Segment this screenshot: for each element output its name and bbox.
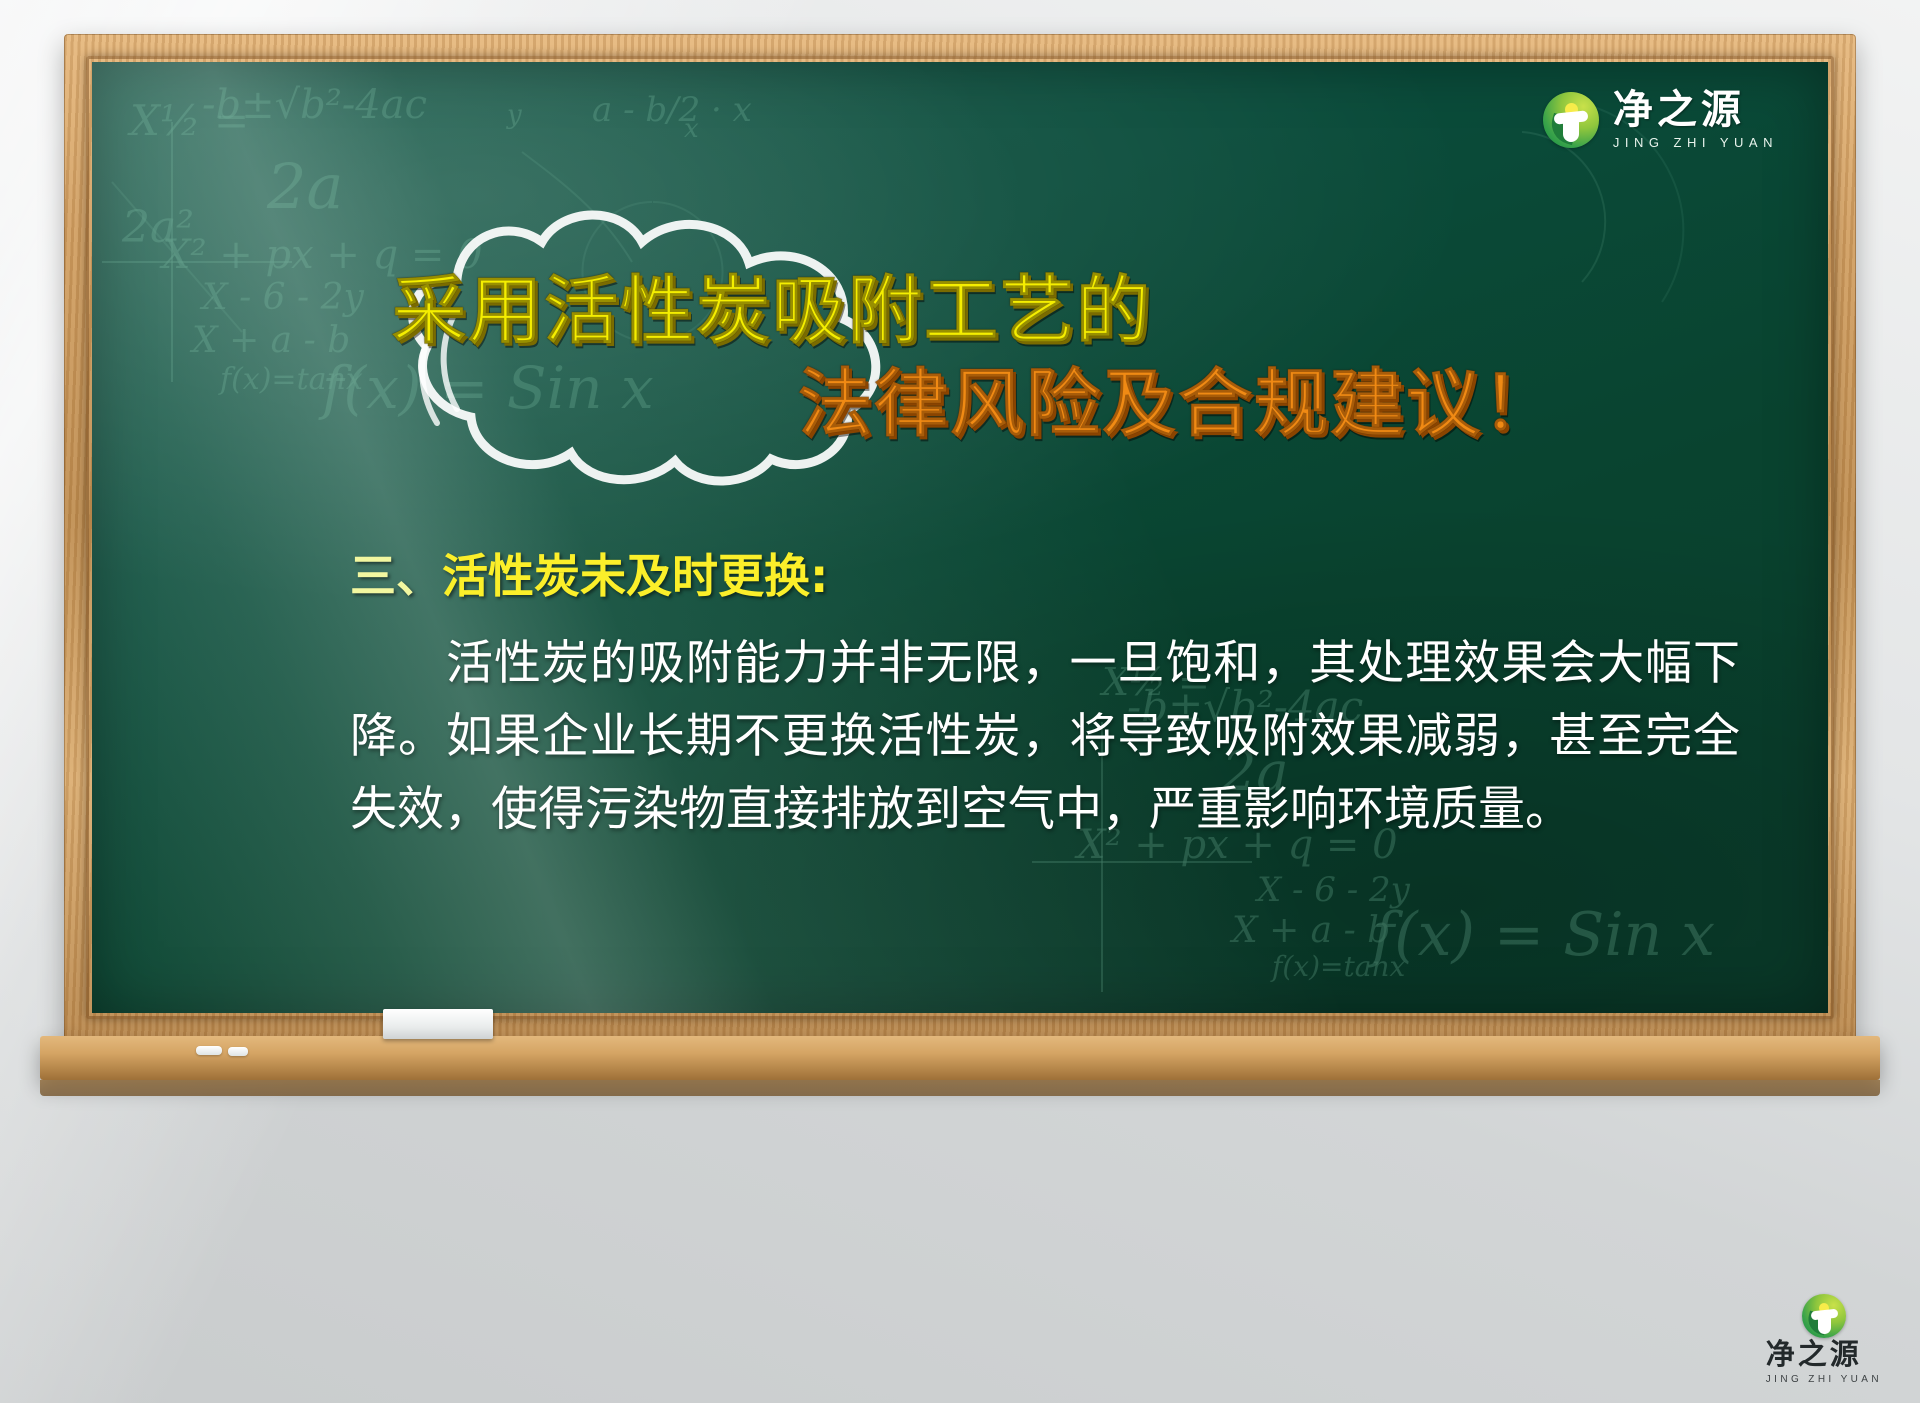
chalk-equation: X - 6 - 2y — [1257, 870, 1410, 910]
brand-name-en: JING ZHI YUAN — [1613, 136, 1778, 149]
chalk-equation: f(x) = Sin x — [1372, 900, 1715, 970]
chalk-equation: X½ = — [130, 96, 249, 145]
slide-canvas: X½ = -b±√b²-4ac 2a 2a² X² + px + q = 0 X… — [0, 0, 1920, 1403]
section-heading-number: 三、 — [350, 549, 442, 603]
logo-body — [1563, 118, 1579, 142]
brand-logo-text: 净之源 JING ZHI YUAN — [1766, 1340, 1882, 1385]
chalk-stick — [196, 1046, 222, 1055]
brand-name-cn: 净之源 — [1766, 1340, 1882, 1369]
chalk-equation: X - 6 - 2y — [202, 277, 364, 318]
slide-content: 三、活性炭未及时更换: 活性炭的吸附能力并非无限，一旦饱和，其处理效果会大幅下降… — [350, 547, 1770, 846]
chalk-equation: y — [507, 100, 522, 130]
chalk-equation: 2a — [267, 150, 343, 223]
chalk-equation: 2a² — [122, 202, 194, 253]
section-heading-text: 活性炭未及时更换: — [442, 549, 828, 603]
chalk-equation: -b±√b²-4ac — [202, 82, 427, 128]
title-line-1: 采用活性炭吸附工艺的 — [392, 272, 1682, 350]
board-light-reflection — [92, 62, 1357, 1013]
chalk-equations-layer: X½ = -b±√b²-4ac 2a 2a² X² + px + q = 0 X… — [92, 62, 1828, 1013]
chalk-equation: f(x)=tanx — [1272, 950, 1405, 983]
section-heading: 三、活性炭未及时更换: — [350, 547, 1770, 605]
leaf-person-logo-icon — [1543, 92, 1599, 148]
chalkboard-surface: X½ = -b±√b²-4ac 2a 2a² X² + px + q = 0 X… — [92, 62, 1828, 1013]
brand-name-cn: 净之源 — [1613, 90, 1778, 130]
chalk-equation: f(x)=tanx — [220, 362, 363, 397]
brand-logo-top: 净之源 JING ZHI YUAN — [1543, 90, 1778, 149]
chalk-equation: x — [684, 114, 699, 144]
leaf-person-logo-icon — [1802, 1294, 1846, 1338]
brand-logo-text: 净之源 JING ZHI YUAN — [1613, 90, 1778, 149]
chalk-equation: a - b/2 · x — [592, 90, 752, 130]
brand-logo-bottom: 净之源 JING ZHI YUAN — [1766, 1294, 1882, 1385]
logo-body — [1818, 1315, 1831, 1334]
blackboard-eraser — [383, 1009, 493, 1039]
chalk-tray-front-edge — [40, 1080, 1880, 1096]
title-line-2: 法律风险及合规建议！ — [798, 362, 1682, 446]
chalk-tray — [40, 1036, 1880, 1080]
chalk-equation: X + a - b — [1232, 910, 1390, 951]
brand-name-en: JING ZHI YUAN — [1766, 1375, 1882, 1385]
chalk-equation: X + a - b — [192, 320, 350, 361]
chalk-axes-sketch — [92, 62, 1828, 1013]
body-paragraph: 活性炭的吸附能力并非无限，一旦饱和，其处理效果会大幅下降。如果企业长期不更换活性… — [350, 627, 1740, 846]
slide-title: 采用活性炭吸附工艺的 法律风险及合规建议！ — [392, 272, 1682, 446]
chalk-stick — [228, 1047, 248, 1056]
